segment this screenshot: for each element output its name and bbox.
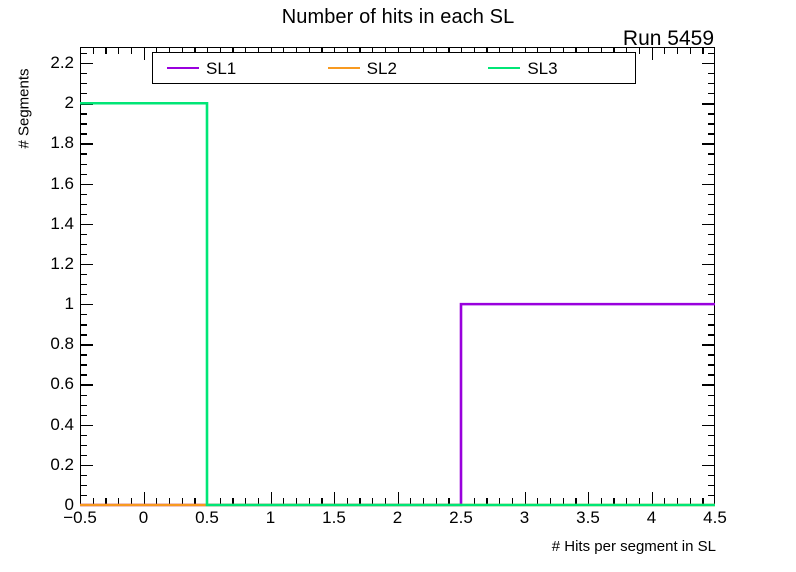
y-tick-left <box>80 174 87 175</box>
x-tick-bottom <box>194 498 195 505</box>
y-tick-label: 0.4 <box>4 415 74 435</box>
x-tick-bottom <box>118 498 119 505</box>
y-tick-right <box>708 93 715 94</box>
y-tick-label: 2.2 <box>4 53 74 73</box>
x-tick-label: 1.5 <box>322 508 346 528</box>
y-tick-right <box>702 304 715 305</box>
y-tick-left <box>80 123 87 124</box>
y-tick-left <box>80 374 87 375</box>
x-tick-bottom <box>474 498 475 505</box>
x-tick-bottom <box>525 492 526 505</box>
y-tick-left <box>80 103 93 104</box>
y-tick-right <box>708 405 715 406</box>
y-tick-label: 0 <box>4 495 74 515</box>
x-tick-bottom <box>613 498 614 505</box>
legend-line-swatch-sl3 <box>488 67 520 70</box>
y-tick-left <box>80 304 93 305</box>
y-tick-left <box>80 244 87 245</box>
x-tick-bottom <box>702 498 703 505</box>
legend-entry-sl3[interactable]: SL3 <box>474 60 635 77</box>
y-tick-left <box>80 485 87 486</box>
x-tick-bottom <box>639 498 640 505</box>
x-tick-bottom <box>436 498 437 505</box>
x-tick-top <box>639 47 640 54</box>
y-tick-left <box>80 194 87 195</box>
y-tick-right <box>708 314 715 315</box>
y-tick-left <box>80 264 93 265</box>
x-tick-top <box>702 47 703 54</box>
x-tick-bottom <box>461 492 462 505</box>
y-tick-right <box>708 73 715 74</box>
y-tick-left <box>80 143 93 144</box>
y-tick-right <box>708 294 715 295</box>
y-tick-right <box>708 354 715 355</box>
y-tick-left <box>80 324 87 325</box>
x-tick-bottom <box>448 498 449 505</box>
y-tick-right <box>702 344 715 345</box>
x-tick-top <box>105 47 106 54</box>
y-tick-right <box>708 495 715 496</box>
x-tick-bottom <box>601 498 602 505</box>
x-tick-bottom <box>144 492 145 505</box>
x-tick-bottom <box>372 498 373 505</box>
y-tick-left <box>80 425 93 426</box>
y-tick-label: 1.4 <box>4 214 74 234</box>
x-tick-bottom <box>309 498 310 505</box>
x-tick-bottom <box>677 498 678 505</box>
y-tick-label: 1 <box>4 294 74 314</box>
y-tick-label: 0.2 <box>4 455 74 475</box>
x-tick-bottom <box>347 498 348 505</box>
y-tick-right <box>708 374 715 375</box>
y-tick-right <box>708 475 715 476</box>
x-tick-bottom <box>105 498 106 505</box>
x-tick-bottom <box>398 492 399 505</box>
y-tick-right <box>708 113 715 114</box>
y-tick-label: 2 <box>4 93 74 113</box>
y-tick-right <box>708 395 715 396</box>
y-tick-label: 0.8 <box>4 334 74 354</box>
y-tick-left <box>80 204 87 205</box>
y-tick-left <box>80 184 93 185</box>
x-tick-bottom <box>258 498 259 505</box>
x-tick-top <box>144 47 145 60</box>
y-tick-left <box>80 405 87 406</box>
y-tick-left <box>80 344 93 345</box>
x-tick-label: 4 <box>647 508 656 528</box>
x-tick-bottom <box>245 498 246 505</box>
y-tick-right <box>708 244 715 245</box>
y-tick-right <box>708 334 715 335</box>
x-tick-bottom <box>575 498 576 505</box>
x-axis-title: # Hits per segment in SL <box>552 538 716 555</box>
y-tick-label: 1.2 <box>4 254 74 274</box>
x-tick-label: 2.5 <box>449 508 473 528</box>
x-tick-bottom <box>220 498 221 505</box>
y-tick-right <box>708 83 715 84</box>
legend: SL1SL2SL3 <box>152 52 636 84</box>
x-tick-label: 1 <box>266 508 275 528</box>
x-tick-bottom <box>232 498 233 505</box>
x-tick-bottom <box>626 498 627 505</box>
y-tick-left <box>80 254 87 255</box>
y-tick-right <box>708 194 715 195</box>
y-tick-left <box>80 455 87 456</box>
x-tick-bottom <box>512 498 513 505</box>
y-tick-right <box>702 224 715 225</box>
x-tick-bottom <box>652 492 653 505</box>
x-tick-bottom <box>550 498 551 505</box>
x-tick-bottom <box>321 498 322 505</box>
x-tick-bottom <box>283 498 284 505</box>
y-tick-left <box>80 73 87 74</box>
y-tick-right <box>708 284 715 285</box>
legend-line-swatch-sl1 <box>167 67 199 70</box>
y-tick-left <box>80 113 87 114</box>
x-tick-bottom <box>334 492 335 505</box>
x-tick-bottom <box>169 498 170 505</box>
x-tick-bottom <box>486 498 487 505</box>
y-tick-left <box>80 214 87 215</box>
y-tick-right <box>708 364 715 365</box>
y-tick-left <box>80 314 87 315</box>
x-tick-label: 0 <box>139 508 148 528</box>
x-tick-bottom <box>588 492 589 505</box>
y-tick-left <box>80 224 93 225</box>
y-tick-left <box>80 395 87 396</box>
y-tick-left <box>80 294 87 295</box>
x-tick-bottom <box>156 498 157 505</box>
x-tick-bottom <box>182 498 183 505</box>
y-tick-left <box>80 164 87 165</box>
x-tick-bottom <box>499 498 500 505</box>
x-tick-bottom <box>271 492 272 505</box>
y-tick-right <box>702 425 715 426</box>
legend-label: SL3 <box>527 60 557 77</box>
y-tick-left <box>80 495 87 496</box>
root-canvas: Number of hits in each SL Run 5459 # Seg… <box>0 0 796 572</box>
legend-label: SL2 <box>367 60 397 77</box>
x-tick-bottom <box>410 498 411 505</box>
y-tick-left <box>80 53 87 54</box>
y-tick-right <box>708 415 715 416</box>
y-tick-right <box>702 264 715 265</box>
x-tick-top <box>664 47 665 54</box>
y-tick-right <box>708 445 715 446</box>
y-tick-label: 0.6 <box>4 374 74 394</box>
x-tick-top <box>677 47 678 54</box>
x-tick-top <box>118 47 119 54</box>
y-tick-left <box>80 234 87 235</box>
x-tick-label: 0.5 <box>195 508 219 528</box>
x-tick-label: 2 <box>393 508 402 528</box>
y-tick-right <box>708 274 715 275</box>
x-tick-top <box>131 47 132 54</box>
x-tick-bottom <box>296 498 297 505</box>
y-tick-right <box>708 435 715 436</box>
y-tick-right <box>708 133 715 134</box>
y-tick-left <box>80 364 87 365</box>
y-tick-right <box>708 485 715 486</box>
x-tick-top <box>652 47 653 60</box>
y-tick-label: 1.8 <box>4 133 74 153</box>
x-tick-bottom <box>423 498 424 505</box>
y-tick-left <box>80 384 93 385</box>
y-tick-right <box>702 465 715 466</box>
y-tick-right <box>708 164 715 165</box>
y-tick-left <box>80 435 87 436</box>
legend-label: SL1 <box>206 60 236 77</box>
x-tick-bottom <box>93 498 94 505</box>
y-tick-left <box>80 284 87 285</box>
y-tick-left <box>80 415 87 416</box>
plot-area <box>80 47 715 505</box>
x-tick-top <box>93 47 94 54</box>
y-tick-right <box>702 384 715 385</box>
x-tick-label: 3 <box>520 508 529 528</box>
y-tick-left <box>80 465 93 466</box>
y-tick-label: 1.6 <box>4 174 74 194</box>
y-tick-left <box>80 445 87 446</box>
x-tick-label: 4.5 <box>703 508 727 528</box>
y-tick-right <box>708 153 715 154</box>
x-tick-bottom <box>359 498 360 505</box>
page-title: Number of hits in each SL <box>0 6 796 29</box>
y-tick-right <box>708 123 715 124</box>
y-tick-left <box>80 93 87 94</box>
x-tick-bottom <box>207 492 208 505</box>
legend-entry-sl1[interactable]: SL1 <box>153 60 314 77</box>
y-tick-right <box>708 214 715 215</box>
y-tick-right <box>702 63 715 64</box>
x-tick-top <box>690 47 691 54</box>
x-tick-bottom <box>131 498 132 505</box>
x-tick-bottom <box>664 498 665 505</box>
y-tick-right <box>708 455 715 456</box>
legend-entry-sl2[interactable]: SL2 <box>314 60 475 77</box>
y-tick-right <box>702 184 715 185</box>
y-tick-left <box>80 63 93 64</box>
y-tick-left <box>80 153 87 154</box>
legend-line-swatch-sl2 <box>328 67 360 70</box>
y-tick-left <box>80 354 87 355</box>
y-tick-right <box>708 324 715 325</box>
y-tick-right <box>708 174 715 175</box>
y-tick-left <box>80 475 87 476</box>
x-tick-bottom <box>385 498 386 505</box>
y-tick-left <box>80 274 87 275</box>
y-tick-right <box>708 234 715 235</box>
y-tick-right <box>708 254 715 255</box>
x-tick-bottom <box>690 498 691 505</box>
x-tick-label: 3.5 <box>576 508 600 528</box>
x-tick-bottom <box>537 498 538 505</box>
y-tick-right <box>708 53 715 54</box>
x-tick-bottom <box>563 498 564 505</box>
y-tick-right <box>702 143 715 144</box>
y-tick-right <box>708 204 715 205</box>
y-tick-right <box>702 103 715 104</box>
y-tick-left <box>80 83 87 84</box>
y-tick-left <box>80 133 87 134</box>
y-tick-left <box>80 334 87 335</box>
